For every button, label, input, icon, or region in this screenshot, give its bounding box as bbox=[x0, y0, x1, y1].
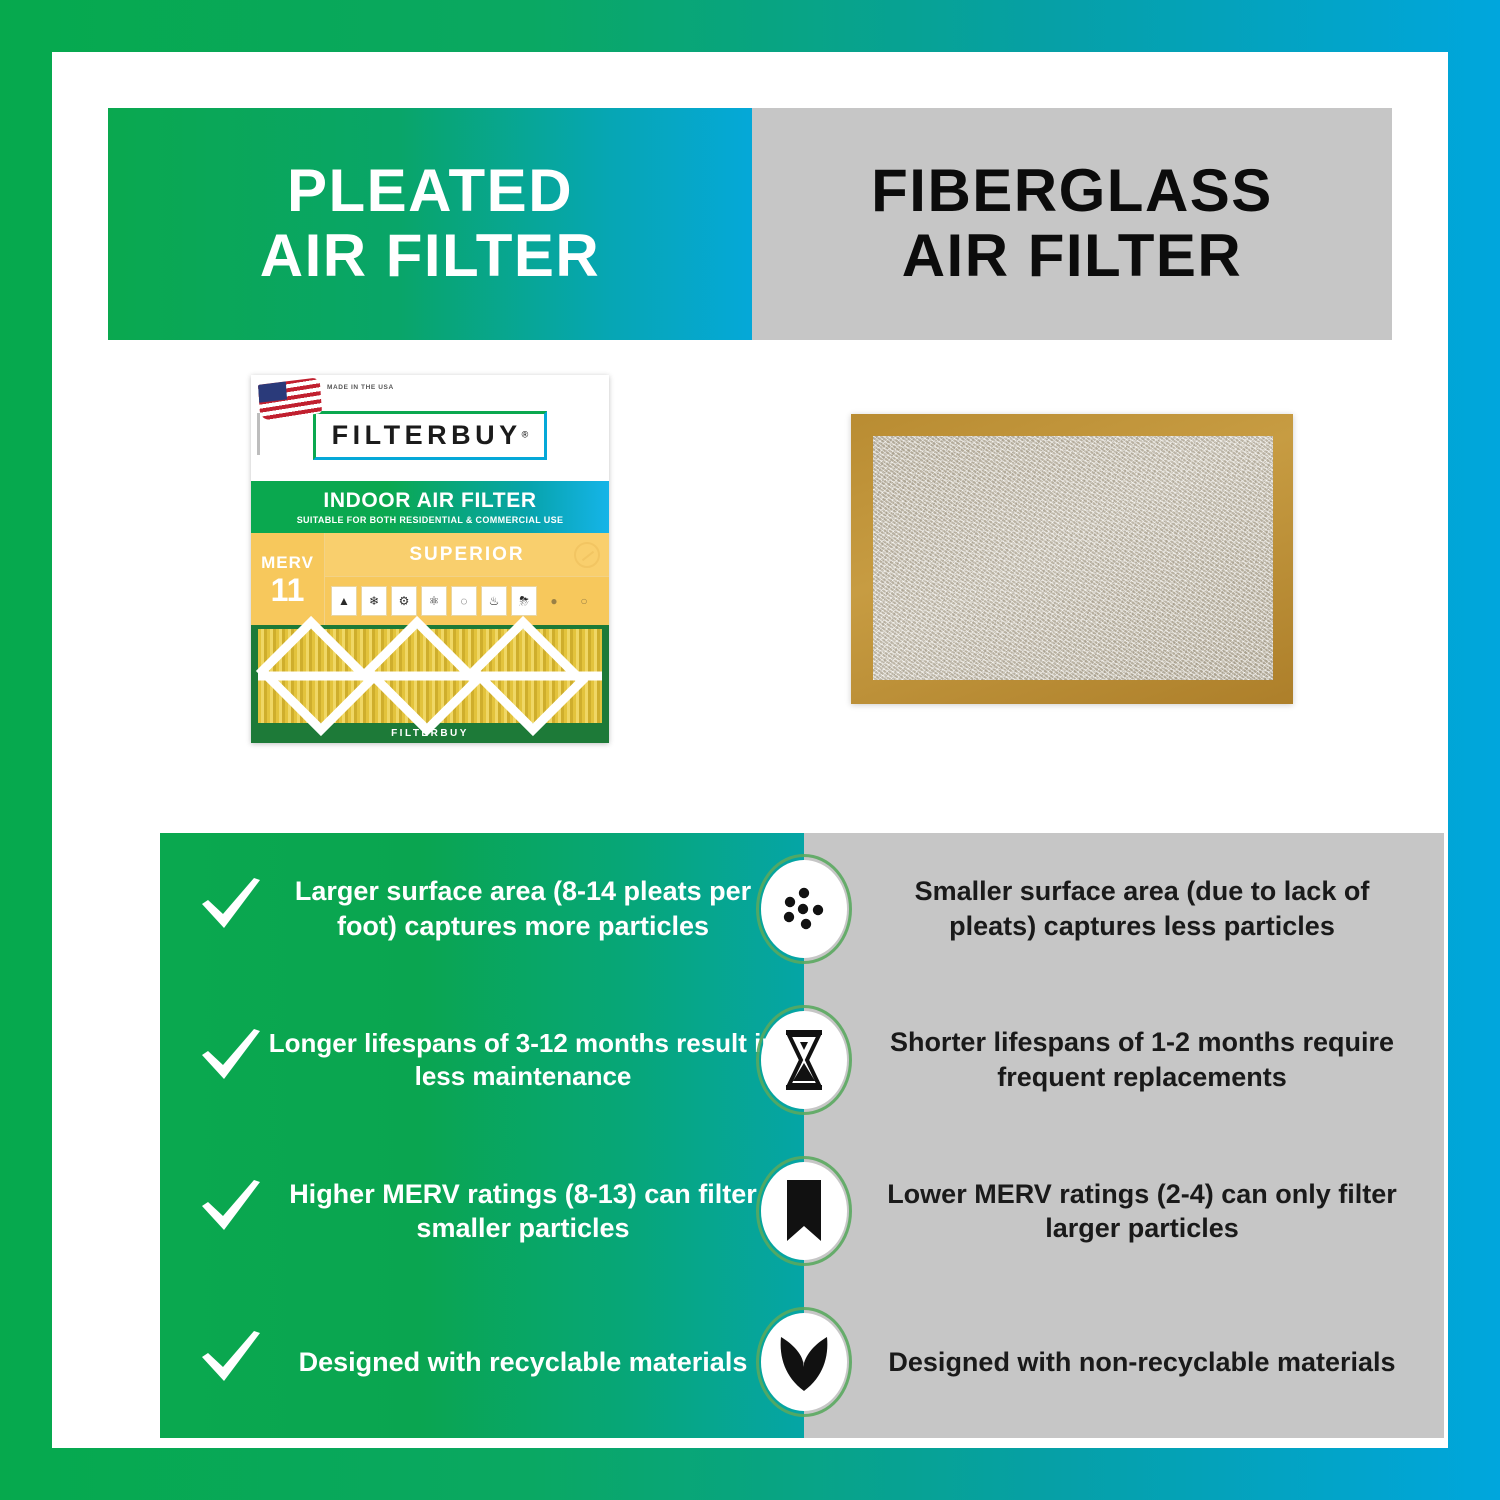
pollen-icon: ❄ bbox=[361, 586, 387, 616]
box-band-subtitle: SUITABLE FOR BOTH RESIDENTIAL & COMMERCI… bbox=[297, 515, 564, 525]
wire-diamond bbox=[256, 616, 376, 736]
pet-dander-icon: ♨ bbox=[481, 586, 507, 616]
wire-support-grid bbox=[258, 629, 602, 723]
comparison-row: Designed with recyclable materials Desig… bbox=[160, 1287, 1444, 1438]
comparison-row: Higher MERV ratings (8-13) can filter sm… bbox=[160, 1136, 1444, 1287]
comparison-left-text: Larger surface area (8-14 pleats per foo… bbox=[268, 874, 778, 943]
header-fiberglass-title: FIBERGLASS AIR FILTER bbox=[871, 159, 1273, 289]
pleat-media-section: FILTERBUY bbox=[251, 625, 609, 743]
comparison-right-text: Lower MERV ratings (2-4) can only filter… bbox=[880, 1177, 1404, 1246]
flag-pole-icon bbox=[257, 413, 260, 455]
comparison-right-text: Designed with non-recyclable materials bbox=[880, 1345, 1404, 1380]
wire-diamond bbox=[468, 616, 588, 736]
comparison-right-cell: Shorter lifespans of 1-2 months require … bbox=[804, 984, 1444, 1135]
header-fiberglass-line1: FIBERGLASS bbox=[871, 157, 1273, 224]
smoke-icon: ◌ bbox=[451, 586, 477, 616]
bookmark-icon bbox=[756, 1156, 852, 1266]
product-image-row: MADE IN THE USA FILTERBUY® INDOOR AIR FI… bbox=[108, 340, 1392, 778]
comparison-left-text: Higher MERV ratings (8-13) can filter sm… bbox=[268, 1177, 778, 1246]
brand-name: FILTERBUY bbox=[332, 420, 522, 450]
checkmark-icon bbox=[194, 1029, 268, 1091]
header-pleated-title: PLEATED AIR FILTER bbox=[260, 159, 601, 289]
box-mid-section: MERV 11 SUPERIOR ▲ ❄ ⚙ ⚛ ◌ bbox=[251, 533, 609, 625]
comparison-left-cell: Longer lifespans of 3-12 months result i… bbox=[160, 984, 804, 1135]
bacteria-icon: ⚙ bbox=[391, 586, 417, 616]
pleated-filter-box-image: MADE IN THE USA FILTERBUY® INDOOR AIR FI… bbox=[251, 375, 609, 743]
extra-icon-2: ○ bbox=[571, 586, 597, 616]
comparison-right-cell: Designed with non-recyclable materials bbox=[804, 1287, 1444, 1438]
comparison-row: Larger surface area (8-14 pleats per foo… bbox=[160, 833, 1444, 984]
comparison-right-text: Shorter lifespans of 1-2 months require … bbox=[880, 1025, 1404, 1094]
pleated-product-cell: MADE IN THE USA FILTERBUY® INDOOR AIR FI… bbox=[108, 340, 752, 778]
header-pleated-line1: PLEATED bbox=[287, 157, 573, 224]
comparison-right-cell: Smaller surface area (due to lack of ple… bbox=[804, 833, 1444, 984]
comparison-right-cell: Lower MERV ratings (2-4) can only filter… bbox=[804, 1136, 1444, 1287]
brand-logo: FILTERBUY® bbox=[313, 411, 548, 460]
infographic-card: PLEATED AIR FILTER FIBERGLASS AIR FILTER… bbox=[52, 52, 1448, 1448]
tier-row: SUPERIOR bbox=[325, 533, 609, 577]
header-fiberglass: FIBERGLASS AIR FILTER bbox=[752, 108, 1392, 340]
allergen-icon: ⛈ bbox=[511, 586, 537, 616]
leaf-icon bbox=[756, 1307, 852, 1417]
comparison-row: Longer lifespans of 3-12 months result i… bbox=[160, 984, 1444, 1135]
fiberglass-product-cell bbox=[752, 340, 1392, 778]
usa-flag-icon bbox=[258, 377, 322, 420]
comparison-left-text: Longer lifespans of 3-12 months result i… bbox=[268, 1027, 778, 1094]
comparison-panel: Larger surface area (8-14 pleats per foo… bbox=[160, 833, 1444, 1438]
wire-diamond bbox=[362, 616, 482, 736]
header-band: PLEATED AIR FILTER FIBERGLASS AIR FILTER bbox=[108, 108, 1392, 340]
header-pleated-line2: AIR FILTER bbox=[260, 222, 601, 289]
header-pleated: PLEATED AIR FILTER bbox=[108, 108, 752, 340]
hourglass-icon bbox=[756, 1005, 852, 1115]
comparison-left-text: Designed with recyclable materials bbox=[268, 1345, 778, 1380]
extra-icon-1: ● bbox=[541, 586, 567, 616]
tier-label: SUPERIOR bbox=[409, 544, 524, 566]
comparison-left-cell: Higher MERV ratings (8-13) can filter sm… bbox=[160, 1136, 804, 1287]
comparison-right-text: Smaller surface area (due to lack of ple… bbox=[880, 874, 1404, 943]
merv-value: 11 bbox=[271, 574, 305, 606]
fiberglass-media-texture bbox=[873, 436, 1273, 680]
pleat-footer-brand: FILTERBUY bbox=[251, 728, 609, 739]
mold-icon: ⚛ bbox=[421, 586, 447, 616]
box-band-title: INDOOR AIR FILTER bbox=[323, 489, 536, 513]
header-fiberglass-line2: AIR FILTER bbox=[902, 222, 1243, 289]
comparison-left-cell: Larger surface area (8-14 pleats per foo… bbox=[160, 833, 804, 984]
checkmark-icon bbox=[194, 878, 268, 940]
merv-label: MERV bbox=[261, 553, 314, 573]
checkmark-icon bbox=[194, 1180, 268, 1242]
brand-trademark: ® bbox=[522, 429, 529, 439]
checkmark-icon bbox=[194, 1331, 268, 1393]
box-band: INDOOR AIR FILTER SUITABLE FOR BOTH RESI… bbox=[251, 481, 609, 533]
dust-icon: ▲ bbox=[331, 586, 357, 616]
box-top-section: MADE IN THE USA FILTERBUY® bbox=[251, 375, 609, 481]
box-mid-right: SUPERIOR ▲ ❄ ⚙ ⚛ ◌ ♨ ⛈ ● ○ bbox=[325, 533, 609, 625]
capability-icon-row: ▲ ❄ ⚙ ⚛ ◌ ♨ ⛈ ● ○ bbox=[325, 577, 609, 625]
ul-certification-icon bbox=[574, 542, 600, 568]
fiberglass-filter-image bbox=[851, 414, 1293, 704]
made-in-usa-label: MADE IN THE USA bbox=[327, 384, 394, 393]
particles-icon bbox=[756, 854, 852, 964]
comparison-left-cell: Designed with recyclable materials bbox=[160, 1287, 804, 1438]
merv-badge: MERV 11 bbox=[251, 533, 325, 625]
